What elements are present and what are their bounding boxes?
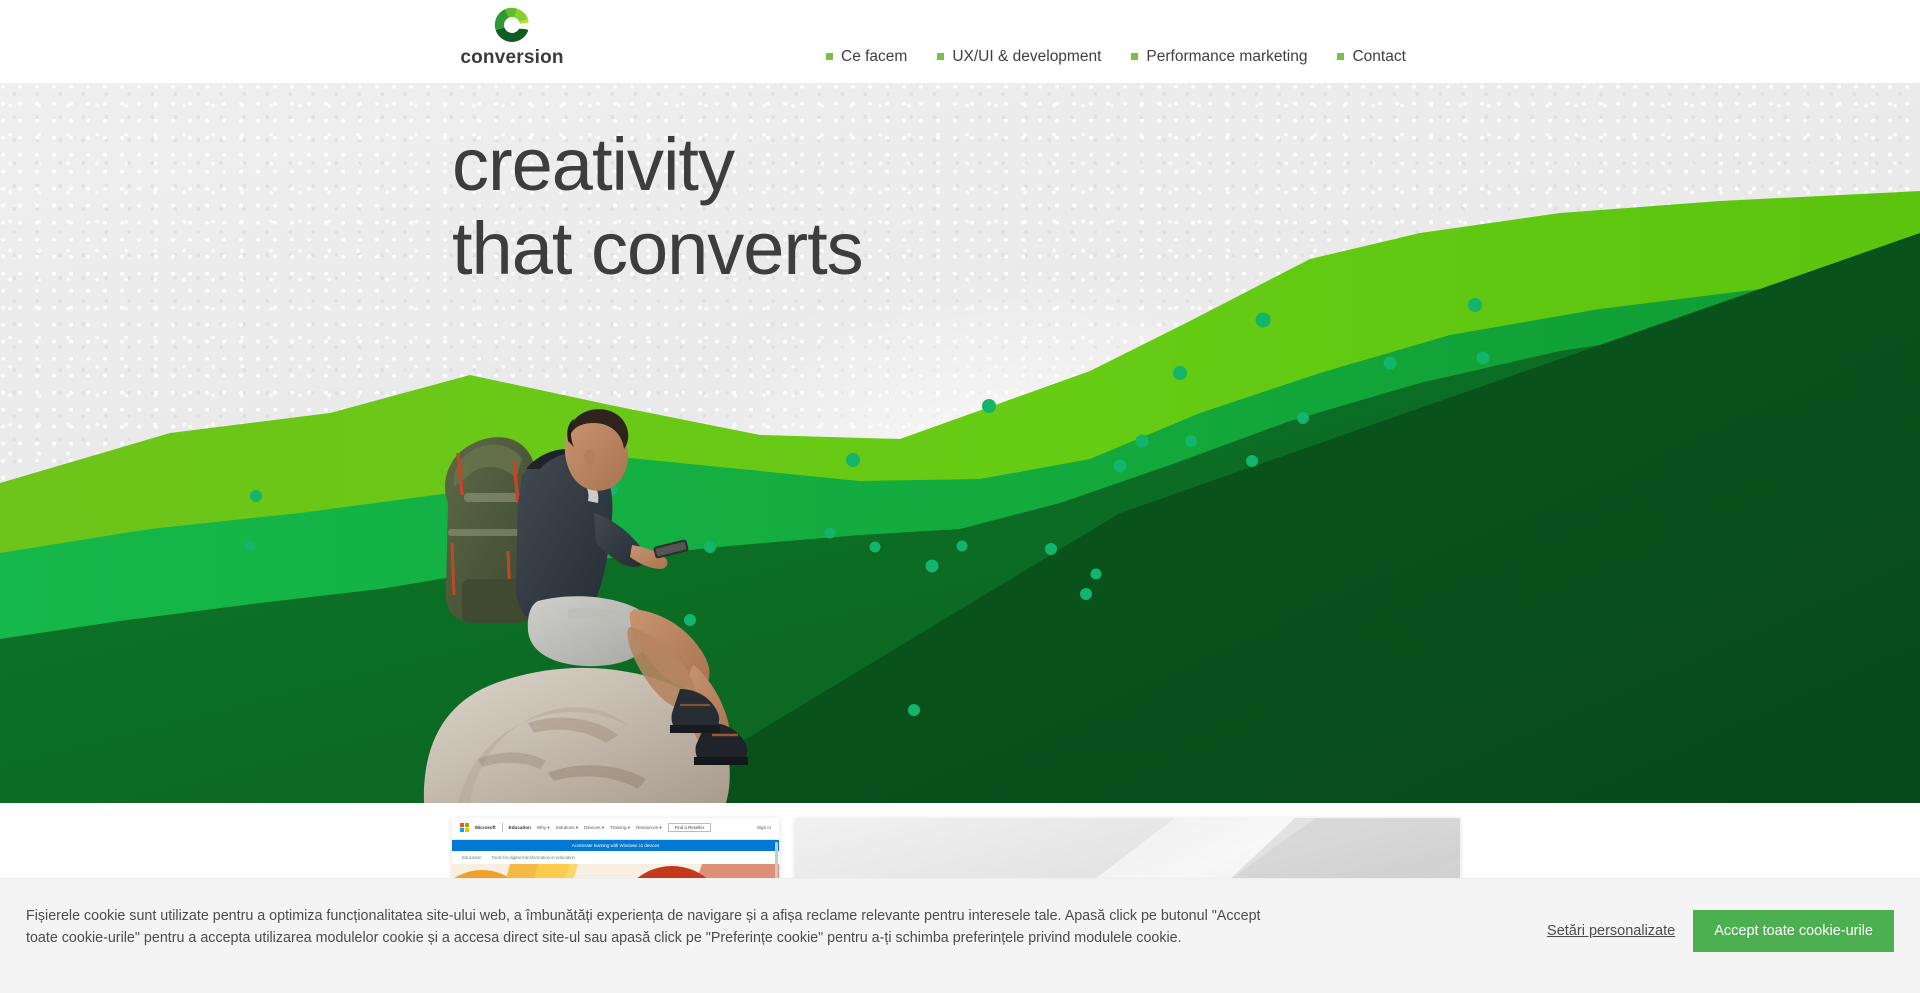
nav-item-ce-facem[interactable]: Ce facem: [826, 49, 907, 65]
ms-edu-section: Education: [509, 825, 531, 830]
microsoft-four-square-logo-icon: [460, 823, 469, 832]
logo-wordmark: conversion: [460, 48, 563, 67]
main-navigation: Ce facem UX/UI & development Performance…: [826, 49, 1406, 65]
nav-item-label: Performance marketing: [1146, 49, 1307, 65]
hiker-on-rock-illustration: [418, 383, 818, 803]
square-bullet-icon: [1131, 53, 1138, 60]
breadcrumb-item-1[interactable]: Education: [462, 855, 482, 860]
ms-edu-menu-1: Why ▾: [537, 825, 550, 831]
nav-item-contact[interactable]: Contact: [1337, 49, 1405, 65]
breadcrumb-item-2[interactable]: Tools for digital transformation in educ…: [492, 855, 575, 860]
ms-edu-brand: Microsoft: [475, 825, 496, 830]
accept-all-cookies-button[interactable]: Accept toate cookie-urile: [1693, 910, 1894, 952]
ms-edu-menu-3: Devices ▾: [584, 825, 604, 831]
conversion-donut-logo-icon: [491, 4, 533, 46]
custom-settings-link[interactable]: Setări personalizate: [1547, 923, 1675, 939]
square-bullet-icon: [1337, 53, 1344, 60]
ms-edu-menu-5: Resources ▾: [636, 825, 662, 831]
ms-edu-breadcrumb: Education Tools for digital transformati…: [452, 851, 779, 864]
cookie-consent-banner: Fișierele cookie sunt utilizate pentru a…: [0, 878, 1920, 993]
divider: [502, 823, 503, 832]
hero-section: creativity that converts: [0, 83, 1920, 803]
nav-item-label: UX/UI & development: [952, 49, 1101, 65]
nav-item-label: Contact: [1352, 49, 1405, 65]
ms-edu-promo-bar[interactable]: Accelerate learning with Windows 11 devi…: [452, 840, 779, 851]
site-header: conversion Ce facem UX/UI & development …: [0, 0, 1920, 83]
nav-item-label: Ce facem: [841, 49, 907, 65]
square-bullet-icon: [937, 53, 944, 60]
ms-edu-promo-text: Accelerate learning with Windows 11 devi…: [572, 843, 660, 848]
cookie-banner-actions: Setări personalizate Accept toate cookie…: [1547, 910, 1894, 952]
cookie-banner-text: Fișierele cookie sunt utilizate pentru a…: [26, 906, 1276, 949]
ms-edu-topbar: Microsoft Education Why ▾ Solutions ▾ De…: [452, 818, 779, 840]
nav-item-performance-marketing[interactable]: Performance marketing: [1131, 49, 1307, 65]
ms-edu-menu-4: Training ▾: [610, 825, 630, 831]
ms-edu-menu-2: Solutions ▾: [556, 825, 578, 831]
logo[interactable]: conversion: [452, 4, 572, 67]
ms-edu-find-reseller-button[interactable]: Find a Reseller: [668, 823, 712, 832]
ms-edu-signin[interactable]: Sign in: [757, 825, 771, 830]
growth-chart-illustration: [0, 83, 1920, 803]
nav-item-ux-ui-development[interactable]: UX/UI & development: [937, 49, 1101, 65]
square-bullet-icon: [826, 53, 833, 60]
